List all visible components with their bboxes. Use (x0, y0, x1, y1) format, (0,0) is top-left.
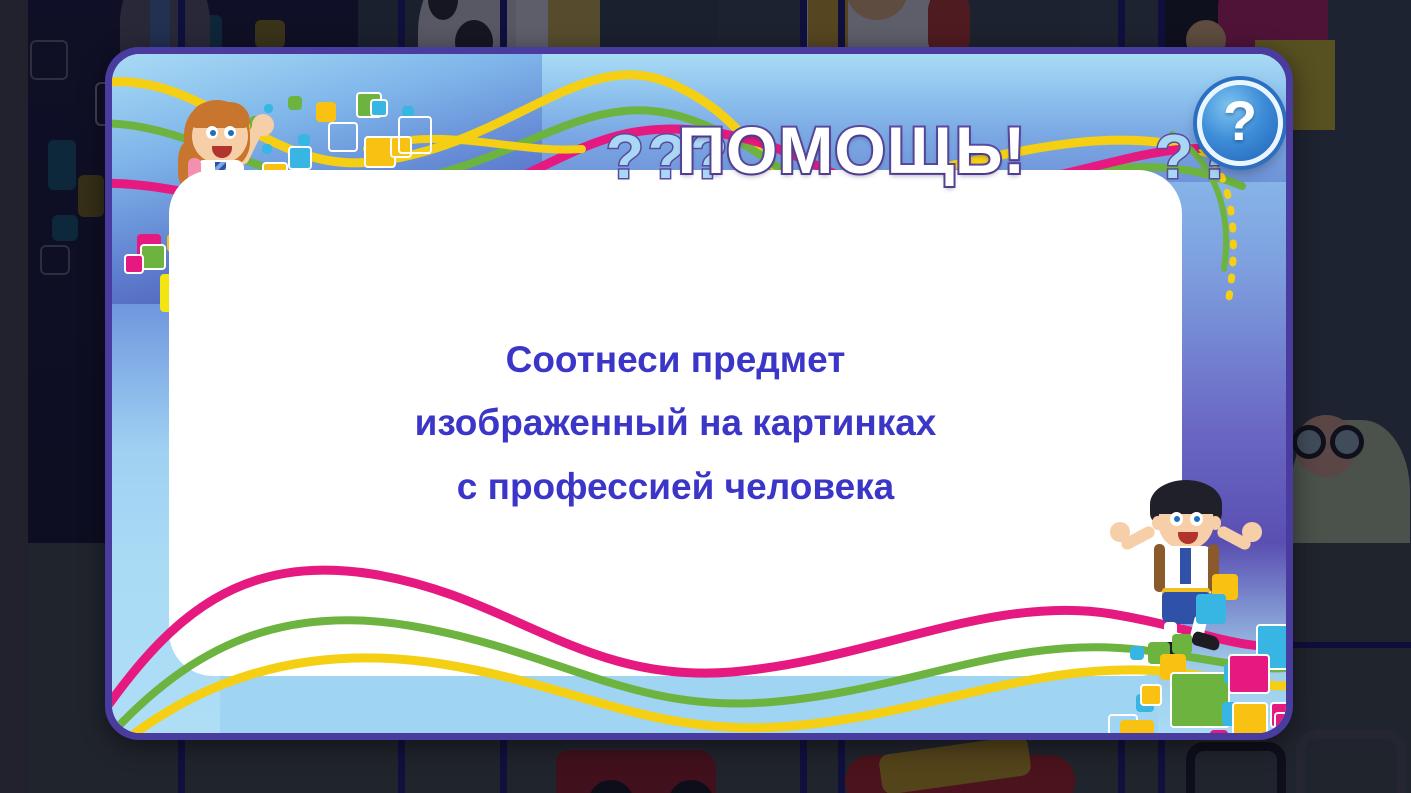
help-dialog: Соотнеси предмет изображенный на картинк… (105, 47, 1293, 740)
confetti-square (1120, 720, 1154, 733)
instruction-line-1: Соотнеси предмет (506, 331, 846, 388)
confetti-square (316, 102, 336, 122)
screen: Соотнеси предмет изображенный на картинк… (0, 0, 1411, 793)
confetti-square (328, 122, 358, 152)
confetti-square (124, 254, 144, 274)
confetti-square (1228, 654, 1270, 694)
confetti-square (1170, 672, 1230, 728)
confetti-square (1130, 646, 1144, 660)
question-mark-icon: ? (1223, 93, 1257, 149)
instruction-line-3: с профессией человека (457, 458, 895, 515)
instruction-line-2: изображенный на картинках (415, 394, 937, 451)
confetti-square (398, 116, 432, 154)
confetti-square (370, 99, 388, 117)
confetti-square (1232, 702, 1268, 733)
confetti-square (1196, 594, 1226, 624)
confetti-square (1140, 684, 1162, 706)
confetti-square (1210, 730, 1228, 733)
instruction-text: Соотнеси предмет изображенный на картинк… (169, 170, 1182, 676)
confetti-square (1172, 634, 1192, 654)
help-button[interactable]: ? (1197, 80, 1283, 166)
confetti-square (1274, 712, 1286, 733)
